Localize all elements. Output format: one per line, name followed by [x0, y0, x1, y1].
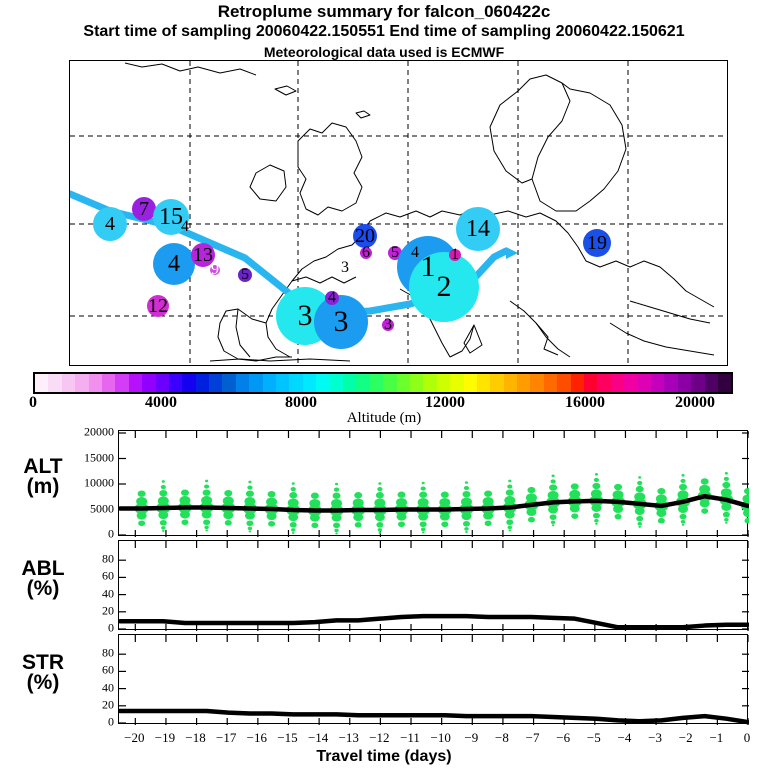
x-axis-label: Travel time (days) — [0, 748, 768, 766]
mean-line — [120, 616, 748, 627]
cluster-label: 2 — [437, 272, 452, 302]
panel-plot-abl — [119, 541, 749, 631]
cluster-label: 13 — [193, 245, 213, 265]
cluster-label: 1 — [451, 247, 459, 263]
cluster-label: 3 — [326, 278, 334, 294]
y-tick-label: 0 — [68, 621, 114, 636]
x-tick-label: −2 — [679, 730, 693, 746]
panel-label-abl: ABL(%) — [6, 559, 80, 599]
y-tick-label: 5000 — [66, 501, 114, 516]
x-tick-label: −9 — [464, 730, 478, 746]
colorbar-swatch — [437, 374, 450, 392]
trajectory-arrow — [506, 247, 518, 259]
colorbar-swatch — [584, 374, 597, 392]
altitude-colorbar — [33, 372, 733, 394]
colorbar-swatch — [343, 374, 356, 392]
panel-plot-str — [119, 635, 749, 725]
cluster-label: 14 — [466, 217, 490, 241]
cluster-label: 3 — [334, 307, 349, 337]
cluster-label: 5 — [241, 267, 249, 283]
x-tick-label: 0 — [744, 730, 751, 746]
colorbar-swatch — [517, 374, 530, 392]
colorbar-swatch — [222, 374, 235, 392]
colorbar-swatch — [102, 374, 115, 392]
cluster-label: 7 — [139, 199, 149, 219]
met-data-line: Meteorological data used is ECMWF — [0, 44, 768, 60]
colorbar-swatch — [544, 374, 557, 392]
sampling-time-line: Start time of sampling 20060422.150551 E… — [0, 23, 768, 41]
colorbar-swatch — [62, 374, 75, 392]
cluster-label: 19 — [587, 233, 607, 253]
colorbar-swatch — [718, 374, 731, 392]
panel-str — [118, 634, 748, 724]
x-tick-label: −15 — [277, 730, 297, 746]
cluster-label: 15 — [159, 205, 183, 229]
x-tick-label: −8 — [495, 730, 509, 746]
cluster-label: 3 — [384, 317, 392, 333]
cluster-label: 9 — [211, 262, 219, 278]
colorbar-swatch — [48, 374, 61, 392]
colorbar-swatch — [651, 374, 664, 392]
y-tick-label: 20000 — [66, 425, 114, 440]
page-title: Retroplume summary for falcon_060422c — [0, 2, 768, 22]
cluster-label: 5 — [391, 245, 399, 261]
retroplume-map: 471544139512334320653141214319 — [69, 60, 728, 366]
colorbar-swatch — [624, 374, 637, 392]
x-tick-label: −1 — [709, 730, 723, 746]
panel-alt — [118, 430, 748, 536]
x-tick-label: −18 — [185, 730, 205, 746]
map-coastlines — [125, 63, 714, 361]
x-tick-label: −17 — [216, 730, 236, 746]
colorbar-swatch — [196, 374, 209, 392]
colorbar-swatch — [276, 374, 289, 392]
cluster-label: 4 — [411, 245, 419, 261]
x-tick-label: −12 — [369, 730, 389, 746]
colorbar-swatch — [638, 374, 651, 392]
colorbar-axis-label: Altitude (m) — [0, 410, 768, 427]
colorbar-swatch — [182, 374, 195, 392]
colorbar-swatch — [397, 374, 410, 392]
cluster-label: 4 — [181, 219, 189, 235]
colorbar-swatch — [504, 374, 517, 392]
colorbar-swatch — [316, 374, 329, 392]
x-tick-label: −16 — [247, 730, 267, 746]
colorbar-swatch — [464, 374, 477, 392]
panel-label-line1: ALT — [6, 457, 80, 477]
panel-plot-alt — [119, 431, 749, 537]
colorbar-swatch — [423, 374, 436, 392]
x-tick-label: −10 — [430, 730, 450, 746]
colorbar-swatch — [303, 374, 316, 392]
colorbar-swatch — [664, 374, 677, 392]
colorbar-swatch — [678, 374, 691, 392]
panel-abl — [118, 540, 748, 630]
panel-label-line2: (%) — [6, 673, 80, 693]
cluster-label: 12 — [148, 296, 168, 316]
colorbar-swatch — [249, 374, 262, 392]
colorbar-swatch — [691, 374, 704, 392]
cluster-label: 3 — [298, 301, 313, 331]
colorbar-swatch — [115, 374, 128, 392]
panel-label-line1: STR — [6, 653, 80, 673]
x-tick-label: −11 — [400, 730, 420, 746]
colorbar-swatch — [490, 374, 503, 392]
x-tick-label: −4 — [618, 730, 632, 746]
y-tick-label: 0 — [66, 527, 114, 542]
colorbar-swatch — [383, 374, 396, 392]
panel-label-line2: (m) — [6, 477, 80, 497]
panel-label-line1: ABL — [6, 559, 80, 579]
panel-label-alt: ALT(m) — [6, 457, 80, 497]
colorbar-swatch — [263, 374, 276, 392]
colorbar-swatch — [169, 374, 182, 392]
x-tick-label: −3 — [648, 730, 662, 746]
y-tick-label: 20 — [68, 603, 114, 618]
cluster-label: 6 — [362, 245, 370, 261]
colorbar-swatch — [370, 374, 383, 392]
mean-line — [120, 496, 748, 510]
colorbar-swatch — [89, 374, 102, 392]
x-tick-label: −5 — [587, 730, 601, 746]
colorbar-swatch — [236, 374, 249, 392]
colorbar-swatch — [356, 374, 369, 392]
mean-line — [120, 711, 748, 722]
x-tick-label: −7 — [526, 730, 540, 746]
colorbar-swatch — [571, 374, 584, 392]
colorbar-swatch — [557, 374, 570, 392]
colorbar-swatch — [611, 374, 624, 392]
colorbar-swatch — [530, 374, 543, 392]
x-tick-label: −6 — [556, 730, 570, 746]
x-tick-label: −13 — [339, 730, 359, 746]
y-tick-label: 0 — [68, 715, 114, 730]
cluster-label: 4 — [168, 252, 180, 276]
colorbar-swatch — [597, 374, 610, 392]
panel-label-line2: (%) — [6, 579, 80, 599]
colorbar-swatch — [75, 374, 88, 392]
colorbar-swatch — [129, 374, 142, 392]
colorbar-swatch — [477, 374, 490, 392]
x-tick-label: −19 — [155, 730, 175, 746]
colorbar-swatch — [410, 374, 423, 392]
y-tick-label: 20 — [68, 697, 114, 712]
cluster-label: 4 — [105, 214, 115, 234]
cluster-label: 20 — [355, 226, 375, 246]
cluster-label: 3 — [341, 260, 349, 276]
colorbar-swatch — [209, 374, 222, 392]
colorbar-swatch — [705, 374, 718, 392]
x-tick-label: −20 — [124, 730, 144, 746]
colorbar-swatch — [289, 374, 302, 392]
colorbar-swatch — [35, 374, 48, 392]
x-tick-label: −14 — [308, 730, 328, 746]
cluster-label: 1 — [421, 252, 436, 282]
colorbar-swatch — [330, 374, 343, 392]
colorbar-swatch — [156, 374, 169, 392]
colorbar-swatch — [450, 374, 463, 392]
panel-label-str: STR(%) — [6, 653, 80, 693]
colorbar-swatch — [142, 374, 155, 392]
